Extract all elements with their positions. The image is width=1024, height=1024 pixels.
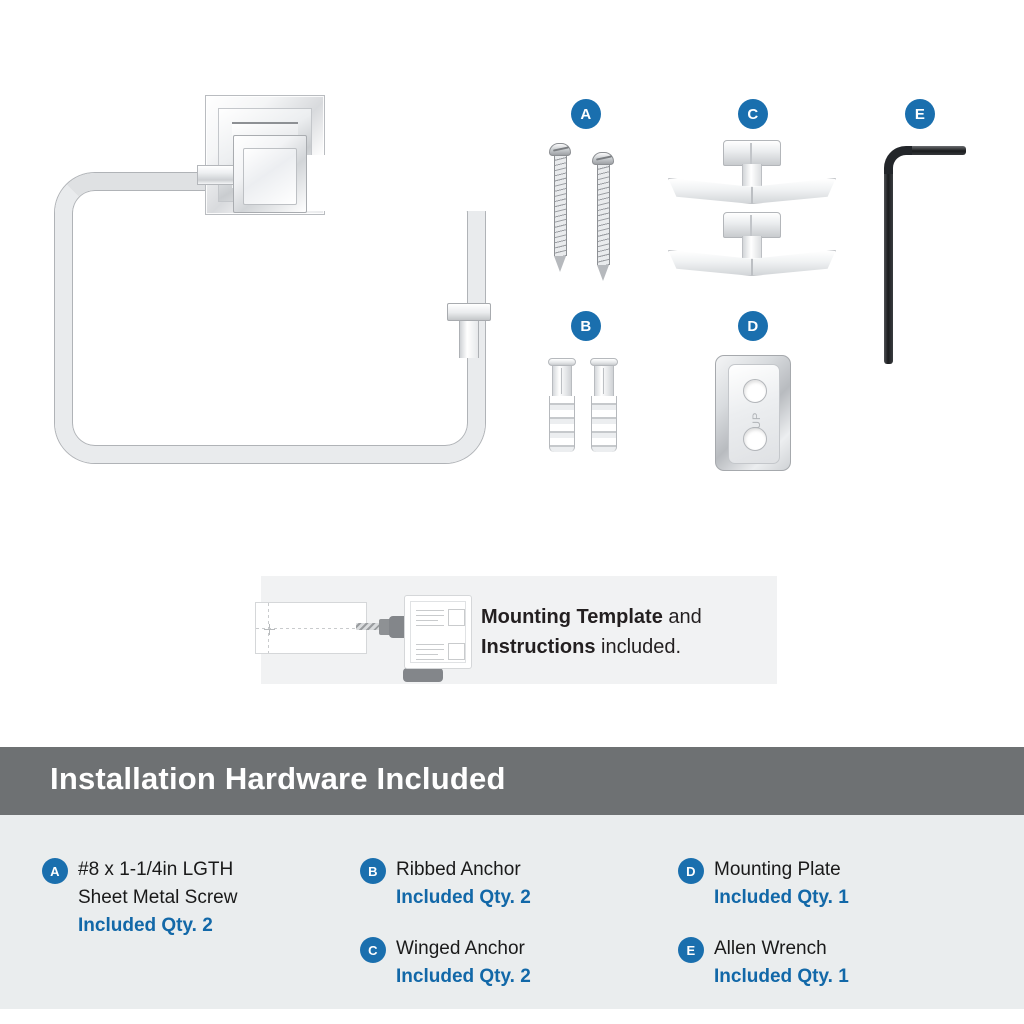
hardware-header-title: Installation Hardware Included [50,761,506,797]
screw-point [597,265,609,281]
hardware-item-a-title-2: Sheet Metal Screw [78,884,237,912]
callout-badge-d: D [738,311,768,341]
hardware-item-d-qty: Included Qty. 1 [714,884,849,912]
hardware-item-c-qty: Included Qty. 2 [396,963,531,991]
winged-anchor-collar [723,140,781,166]
winged-anchor-icon [668,212,836,278]
winged-anchor-wing-left [668,250,752,276]
hardware-item-c-title-1: Winged Anchor [396,935,531,963]
crosshair-icon [264,624,275,635]
hardware-item-b-title-1: Ribbed Anchor [396,856,531,884]
screw-icon [549,143,571,272]
allen-wrench-icon [884,146,964,356]
instruction-sheet-icon [404,595,472,669]
towel-ring-loop [55,173,485,463]
allen-wrench-short-arm [912,146,966,155]
hardware-item-e-text: Allen Wrench Included Qty. 1 [714,935,849,991]
anchor-ribs [591,396,617,452]
mounting-template-and: and [663,606,702,628]
mounting-plate-icon: UP [715,355,791,471]
instructions-tail: included. [595,636,681,658]
hardware-legend-panel: A #8 x 1-1/4in LGTH Sheet Metal Screw In… [0,815,1024,1009]
winged-anchor-wing-left [668,178,752,204]
screw-shaft [554,156,567,256]
anchor-neck [594,366,614,396]
hardware-item-a-qty: Included Qty. 2 [78,912,237,940]
ribbed-anchor-icon [590,358,618,452]
legend-badge-d: D [678,858,704,884]
mounting-plate-face: UP [728,364,780,464]
anchor-ribs [549,396,575,452]
allen-wrench-bend [884,146,914,176]
legend-badge-e: E [678,937,704,963]
template-icon [255,602,367,654]
legend-badge-b: B [360,858,386,884]
anchor-flange [590,358,618,366]
hardware-item-c-text: Winged Anchor Included Qty. 2 [396,935,531,991]
mounting-template-bold: Mounting Template [481,606,663,628]
winged-anchor-collar [723,212,781,238]
winged-anchor-stem [742,236,762,258]
screw-head [592,152,614,165]
hardware-item-b-qty: Included Qty. 2 [396,884,531,912]
product-hardware-diagram: A C E B [0,0,1024,1024]
allen-wrench-long-arm [884,174,893,364]
callout-badge-a: A [571,99,601,129]
mounting-template-text: Mounting Template and Instructions inclu… [481,602,702,662]
escutcheon-boss [233,135,307,213]
hardware-item-e-qty: Included Qty. 1 [714,963,849,991]
ribbed-anchor-icon [548,358,576,452]
instruction-sheet-border [410,601,466,663]
anchor-neck [552,366,572,396]
towel-ring-illustration [55,75,525,495]
legend-badge-a: A [42,858,68,884]
winged-anchor-icon [668,140,836,206]
hardware-header-bar: Installation Hardware Included [0,747,1024,815]
callout-badge-c: C [738,99,768,129]
screw-head [549,143,571,156]
hardware-item-b-text: Ribbed Anchor Included Qty. 2 [396,856,531,912]
mounting-plate-hole [743,427,767,451]
mounting-plate-up-emboss: UP [751,393,763,429]
winged-anchor-wing-right [752,250,836,276]
mounting-template-banner: Mounting Template and Instructions inclu… [261,576,777,684]
towel-ring-end-post [459,318,479,358]
hardware-item-e-title-1: Allen Wrench [714,935,849,963]
anchor-flange [548,358,576,366]
winged-anchor-stem [742,164,762,186]
callout-badge-b: B [571,311,601,341]
screw-icon [592,152,614,281]
legend-badge-c: C [360,937,386,963]
hardware-item-d-title-1: Mounting Plate [714,856,849,884]
screw-shaft [597,165,610,265]
callout-badge-e: E [905,99,935,129]
towel-ring-end-cap [447,303,491,321]
hardware-item-d-text: Mounting Plate Included Qty. 1 [714,856,849,912]
winged-anchor-wing-right [752,178,836,204]
screw-point [554,256,566,272]
drill-battery-icon [403,668,443,682]
hardware-item-a-title-1: #8 x 1-1/4in LGTH [78,856,237,884]
instructions-bold: Instructions [481,636,595,658]
hardware-item-a-text: #8 x 1-1/4in LGTH Sheet Metal Screw Incl… [78,856,237,940]
